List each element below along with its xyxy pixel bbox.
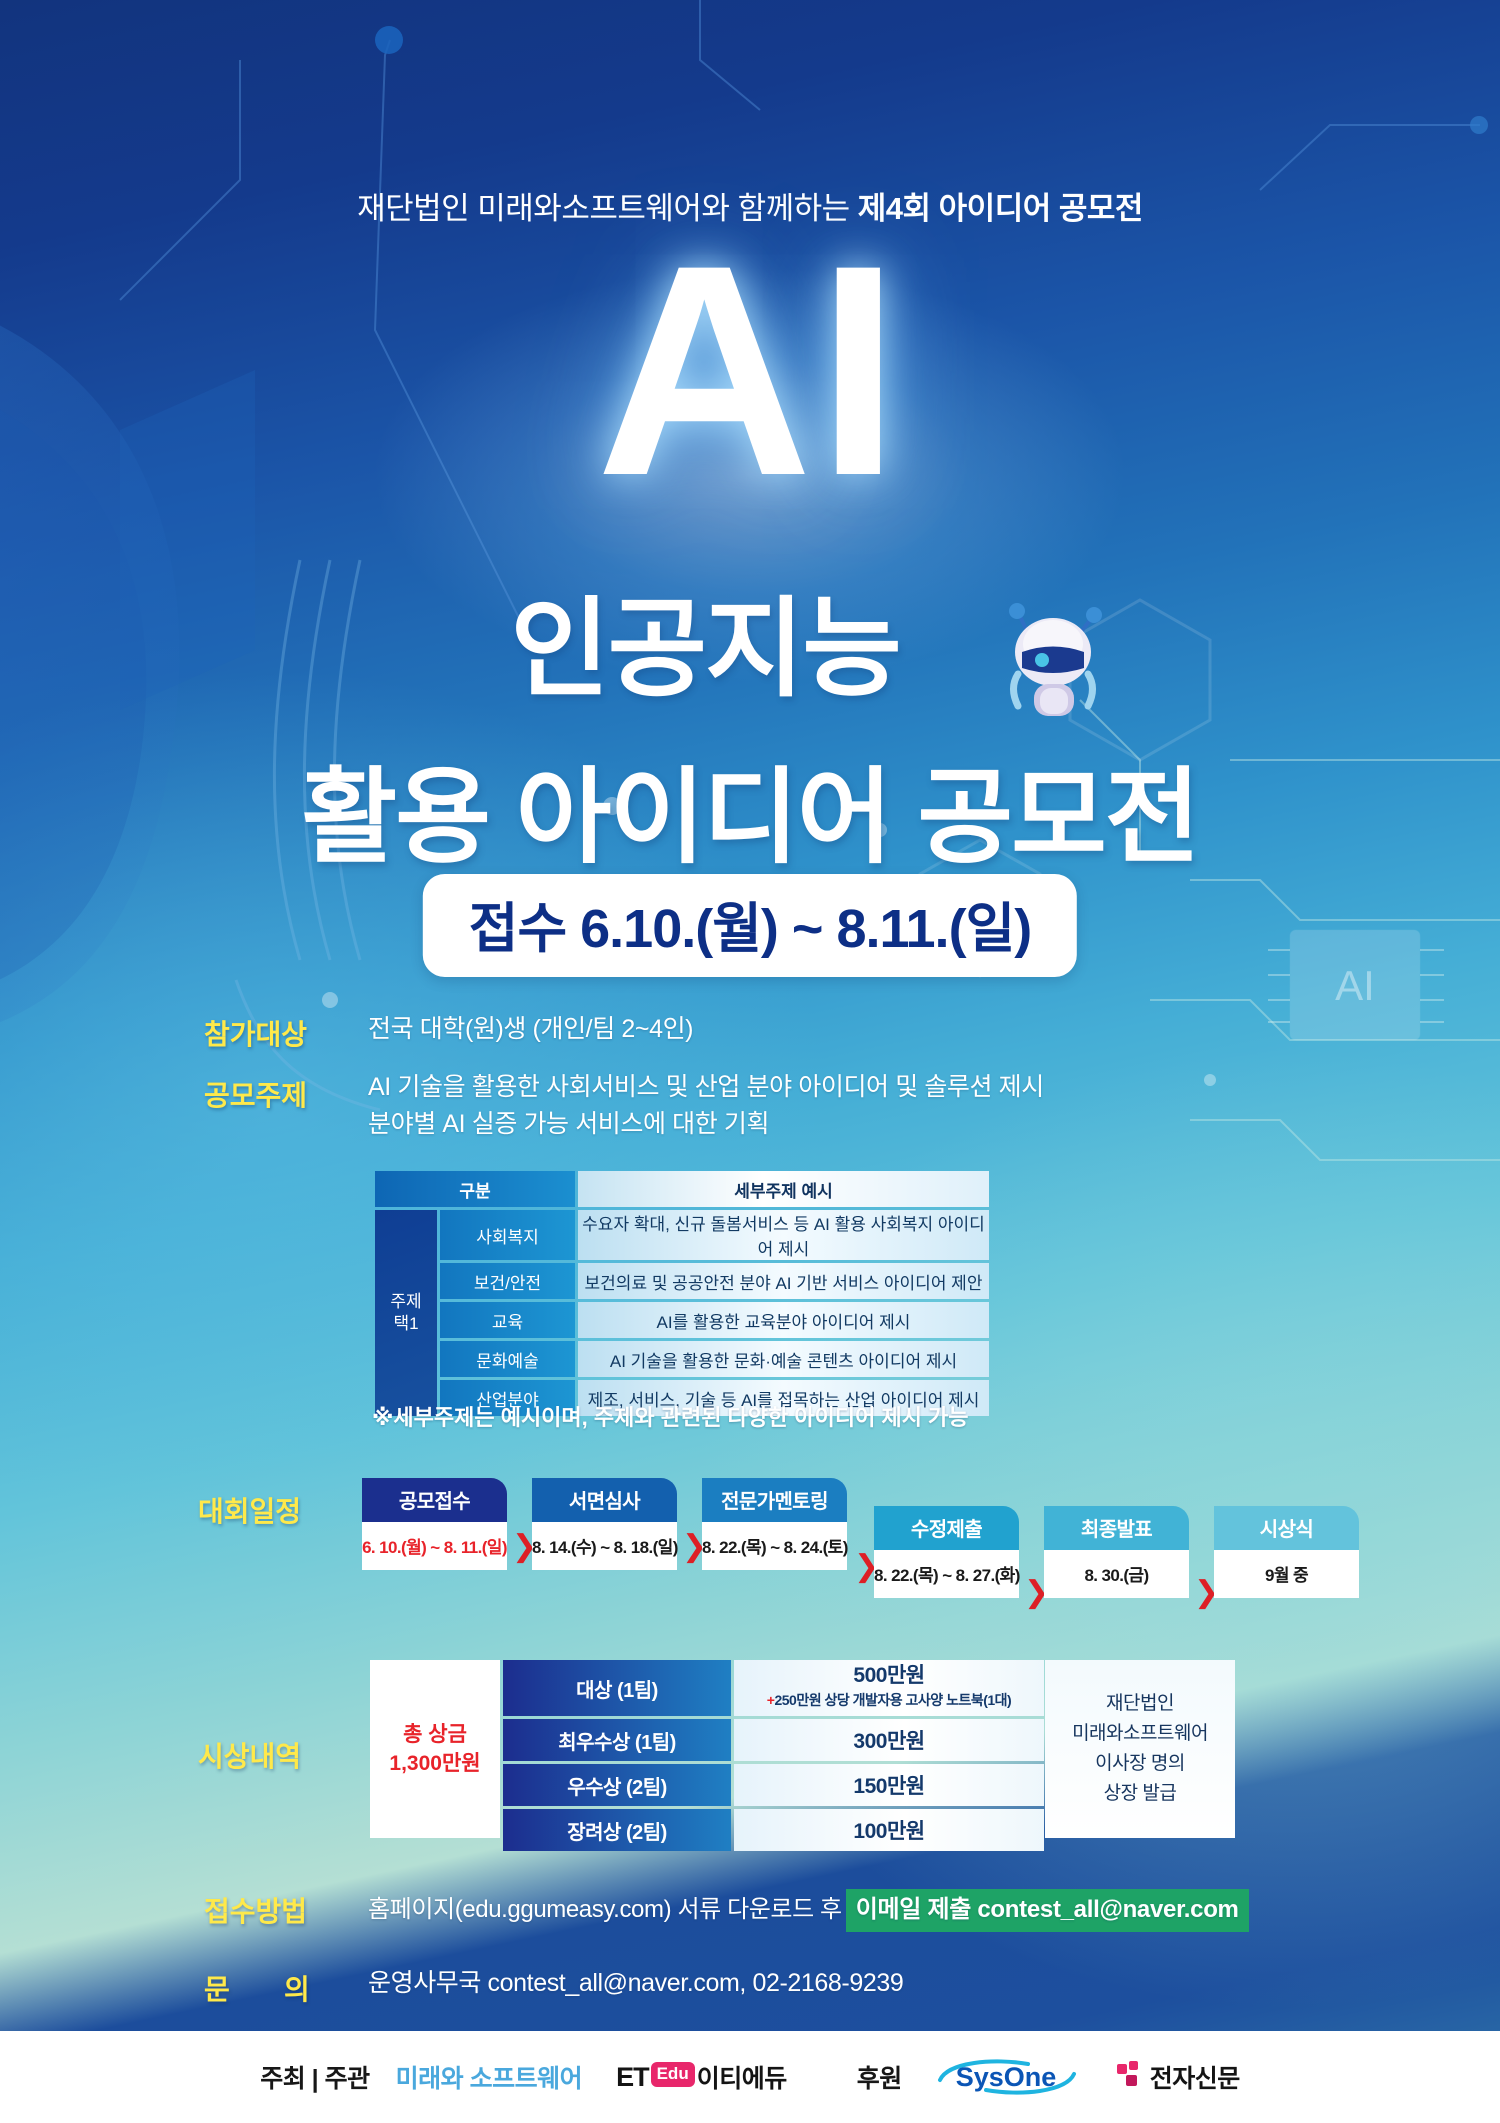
prize-total-line1: 총 상금 xyxy=(389,1720,480,1749)
hero-headline: 활용 아이디어 공모전 xyxy=(0,760,1500,876)
prize-name: 우수상 (2팀) xyxy=(503,1764,731,1806)
schedule-step-4: 수정제출 8. 22.(목) ~ 8. 27.(화) xyxy=(874,1506,1019,1598)
certificate-line2: 미래와소프트웨어 xyxy=(1072,1719,1208,1749)
label-apply: 접수방법 xyxy=(204,1890,307,1930)
text-theme-line2: 분야별 AI 실증 가능 서비스에 대한 기획 xyxy=(368,1107,769,1142)
topic-table: 구분 세부주제 예시 주제 택1 사회복지 수요자 확대, 신규 돌봄서비스 등… xyxy=(372,1168,992,1419)
contact-text: 운영사무국 contest_all@naver.com, 02-2168-923… xyxy=(368,1966,903,2001)
footer-sponsor-label: 후원 xyxy=(857,2059,902,2095)
apply-email-chip[interactable]: 이메일 제출 contest_all@naver.com xyxy=(846,1889,1249,1932)
schedule-step-1: 공모접수 6. 10.(월) ~ 8. 11.(일) xyxy=(362,1478,507,1570)
schedule-flow: 공모접수 6. 10.(월) ~ 8. 11.(일) ❯ 서면심사 8. 14.… xyxy=(362,1478,1362,1608)
table-row: 문화예술 AI 기술을 활용한 문화·예술 콘텐츠 아이디어 제시 xyxy=(375,1341,989,1377)
topic-category: 사회복지 xyxy=(440,1210,575,1260)
topic-span-line2: 택1 xyxy=(375,1313,437,1335)
topic-category: 교육 xyxy=(440,1302,575,1338)
prize-name: 대상 (1팀) xyxy=(503,1660,731,1716)
topic-head-left: 구분 xyxy=(375,1171,575,1207)
topic-span-line1: 주제 xyxy=(375,1291,437,1313)
etnews-logo: 전자신문 xyxy=(1116,2059,1240,2095)
topic-desc: AI를 활용한 교육분야 아이디어 제시 xyxy=(578,1302,989,1338)
schedule-step-date: 8. 22.(목) ~ 8. 27.(화) xyxy=(874,1550,1019,1598)
hero-ai-word: AI xyxy=(0,225,1500,515)
schedule-step-6: 시상식 9월 중 xyxy=(1214,1506,1359,1598)
prize-value: 100만원 xyxy=(734,1809,1044,1851)
text-theme-line1: AI 기술을 활용한 사회서비스 및 산업 분야 아이디어 및 솔루션 제시 xyxy=(368,1070,1044,1105)
schedule-step-title: 수정제출 xyxy=(874,1506,1019,1550)
topic-desc: 보건의료 및 공공안전 분야 AI 기반 서비스 아이디어 제안 xyxy=(578,1263,989,1299)
footer-bar: 주최 | 주관 미래와 소프트웨어 ET Edu 이티에듀 후원 SysOne xyxy=(0,2031,1500,2123)
svg-text:AI: AI xyxy=(1335,962,1375,1009)
text-target: 전국 대학(원)생 (개인/팀 2~4인) xyxy=(368,1012,693,1047)
etedu-korean: 이티에듀 xyxy=(697,2059,787,2095)
prize-name: 장려상 (2팀) xyxy=(503,1809,731,1851)
poster-canvas: AI 재단법인 미래와소프트웨어와 함께하는 제4회 아이디어 공모전 AI 인… xyxy=(0,0,1500,2123)
table-row: 주제 택1 사회복지 수요자 확대, 신규 돌봄서비스 등 AI 활용 사회복지… xyxy=(375,1210,989,1260)
topic-category: 보건/안전 xyxy=(440,1263,575,1299)
etnews-mark-icon xyxy=(1116,2060,1150,2094)
prize-total: 총 상금 1,300만원 xyxy=(370,1660,500,1838)
application-period-pill: 접수 6.10.(월) ~ 8.11.(일) xyxy=(423,874,1077,977)
label-schedule: 대회일정 xyxy=(198,1490,301,1530)
table-row: 교육 AI를 활용한 교육분야 아이디어 제시 xyxy=(375,1302,989,1338)
hero-subtitle-korean: 인공지능 xyxy=(0,590,1500,708)
robot-mascot-icon xyxy=(1000,596,1118,721)
etnews-wordmark: 전자신문 xyxy=(1150,2059,1240,2095)
sysone-wordmark: SysOne xyxy=(955,2062,1056,2092)
prize-sub-text: 250만원 상당 개발자용 고사양 노트북(1대) xyxy=(774,1692,1011,1708)
topic-category: 문화예술 xyxy=(440,1341,575,1377)
topic-desc: AI 기술을 활용한 문화·예술 콘텐츠 아이디어 제시 xyxy=(578,1341,989,1377)
prize-value: 300만원 xyxy=(734,1719,1044,1761)
label-contact-1: 문 xyxy=(204,1968,230,2008)
prize-certificate: 재단법인 미래와소프트웨어 이사장 명의 상장 발급 xyxy=(1045,1660,1235,1838)
certificate-line4: 상장 발급 xyxy=(1072,1779,1208,1809)
apply-text-row: 홈페이지(edu.ggumeasy.com) 서류 다운로드 후이메일 제출 c… xyxy=(368,1889,1249,1932)
topic-head-right: 세부주제 예시 xyxy=(578,1171,989,1207)
schedule-step-title: 공모접수 xyxy=(362,1478,507,1522)
topic-desc: 수요자 확대, 신규 돌봄서비스 등 AI 활용 사회복지 아이디어 제시 xyxy=(578,1210,989,1260)
table-header-row: 구분 세부주제 예시 xyxy=(375,1171,989,1207)
label-theme: 공모주제 xyxy=(204,1074,307,1114)
prize-value: 500만원 xyxy=(853,1663,924,1688)
label-contact-2: 의 xyxy=(284,1968,310,2008)
schedule-step-date: 8. 22.(목) ~ 8. 24.(토) xyxy=(702,1522,847,1570)
label-prize: 시상내역 xyxy=(198,1735,301,1775)
prize-total-line2: 1,300만원 xyxy=(389,1749,480,1778)
prize-row: 대상 (1팀) 500만원 +250만원 상당 개발자용 고사양 노트북(1대) xyxy=(503,1660,1044,1716)
prize-rows: 대상 (1팀) 500만원 +250만원 상당 개발자용 고사양 노트북(1대)… xyxy=(503,1660,1044,1854)
prize-value-sub: +250만원 상당 개발자용 고사양 노트북(1대) xyxy=(767,1688,1011,1713)
schedule-step-title: 시상식 xyxy=(1214,1506,1359,1550)
certificate-line1: 재단법인 xyxy=(1072,1689,1208,1719)
schedule-step-2: 서면심사 8. 14.(수) ~ 8. 18.(일) xyxy=(532,1478,677,1570)
sysone-logo: SysOne xyxy=(932,2054,1082,2100)
topic-span-label: 주제 택1 xyxy=(375,1210,437,1416)
prize-value-cell: 500만원 +250만원 상당 개발자용 고사양 노트북(1대) xyxy=(734,1660,1044,1716)
schedule-step-title: 최종발표 xyxy=(1044,1506,1189,1550)
prize-row: 우수상 (2팀) 150만원 xyxy=(503,1764,1044,1806)
schedule-step-date: 8. 14.(수) ~ 8. 18.(일) xyxy=(532,1522,677,1570)
footer-host-label: 주최 | 주관 xyxy=(260,2059,369,2095)
label-target: 참가대상 xyxy=(204,1013,307,1053)
schedule-step-title: 서면심사 xyxy=(532,1478,677,1522)
sysone-logo-icon: SysOne xyxy=(932,2054,1082,2100)
table-row: 보건/안전 보건의료 및 공공안전 분야 AI 기반 서비스 아이디어 제안 xyxy=(375,1263,989,1299)
etedu-et-mark: ET xyxy=(616,2062,649,2093)
etedu-badge: Edu xyxy=(651,2062,695,2087)
prize-row: 장려상 (2팀) 100만원 xyxy=(503,1809,1044,1851)
prize-name: 최우수상 (1팀) xyxy=(503,1719,731,1761)
certificate-line3: 이사장 명의 xyxy=(1072,1749,1208,1779)
apply-text: 홈페이지(edu.ggumeasy.com) 서류 다운로드 후 xyxy=(368,1896,842,1923)
etedu-logo: ET Edu 이티에듀 xyxy=(616,2059,787,2095)
prize-row: 최우수상 (1팀) 300만원 xyxy=(503,1719,1044,1761)
schedule-step-date: 8. 30.(금) xyxy=(1044,1550,1189,1598)
schedule-step-3: 전문가멘토링 8. 22.(목) ~ 8. 24.(토) xyxy=(702,1478,847,1570)
footer-host-org: 미래와 소프트웨어 xyxy=(396,2059,582,2095)
schedule-step-date: 6. 10.(월) ~ 8. 11.(일) xyxy=(362,1522,507,1570)
schedule-step-date: 9월 중 xyxy=(1214,1550,1359,1598)
schedule-step-5: 최종발표 8. 30.(금) xyxy=(1044,1506,1189,1598)
schedule-step-title: 전문가멘토링 xyxy=(702,1478,847,1522)
topic-note: ※세부주제는 예시이며, 주제와 관련된 다양한 아이디어 제시 가능 xyxy=(372,1400,969,1432)
prize-value: 150만원 xyxy=(734,1764,1044,1806)
